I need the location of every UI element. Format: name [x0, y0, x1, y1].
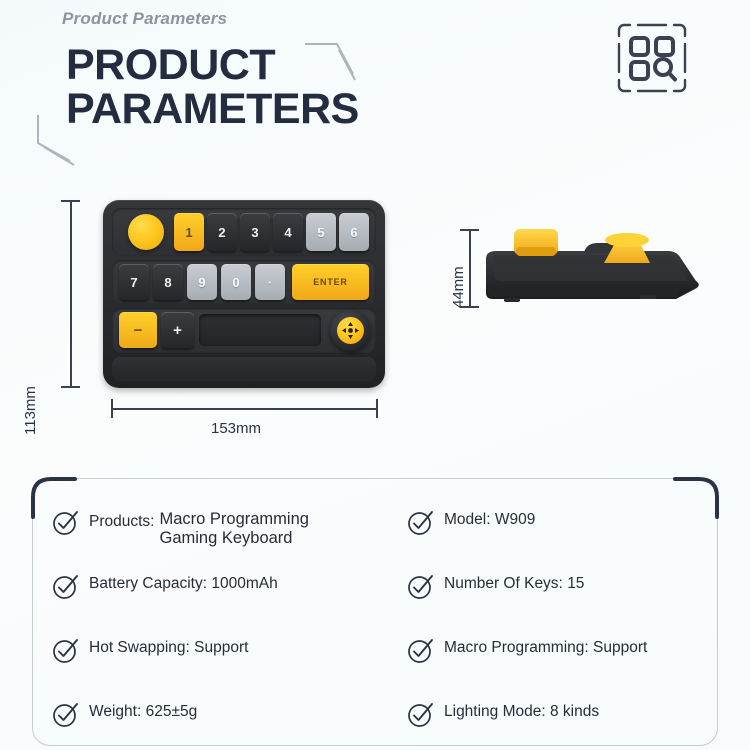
check-circle-icon	[52, 701, 79, 728]
keyboard-side-view-wrap: 44mm	[428, 218, 710, 328]
page-title: PRODUCT PARAMETERS	[66, 44, 486, 132]
directional-joystick[interactable]	[330, 310, 371, 351]
spec-value-line-1: Macro Programming	[159, 510, 308, 528]
bracket-decoration-icon	[34, 113, 94, 168]
spec-label: Lighting Mode:	[444, 703, 546, 720]
key-2[interactable]: 2	[207, 213, 237, 251]
key-enter[interactable]: ENTER	[292, 264, 369, 300]
dimension-tick	[61, 386, 80, 388]
keyboard-row-2: 7 8 9 0 · ENTER	[112, 260, 376, 304]
spec-item-battery-capacity: Battery Capacity: 1000mAh	[52, 571, 407, 635]
key-decimal-point[interactable]: ·	[255, 264, 285, 300]
spec-value: 625±5g	[146, 703, 198, 720]
dimension-tick	[376, 399, 378, 418]
dimension-label-width: 153mm	[211, 420, 261, 437]
key-5[interactable]: 5	[306, 213, 336, 251]
spec-value: W909	[495, 511, 536, 528]
keyboard-palm-rest	[112, 357, 376, 381]
dimension-tick	[460, 229, 479, 231]
spec-value: Support	[593, 639, 647, 656]
keyboard-row-3: − +	[112, 308, 376, 353]
key-4[interactable]: 4	[273, 213, 303, 251]
check-circle-icon	[52, 637, 79, 664]
rotary-knob[interactable]	[128, 214, 164, 250]
spec-item-products: Products: Macro Programming Gaming Keybo…	[52, 507, 407, 571]
spec-label: Products:	[89, 510, 154, 531]
key-space-bar[interactable]	[199, 314, 321, 346]
bracket-decoration-icon	[303, 40, 363, 90]
dimension-line-horizontal	[111, 408, 377, 410]
grid-search-icon	[614, 20, 690, 96]
spec-item-weight: Weight: 625±5g	[52, 699, 407, 750]
key-8[interactable]: 8	[153, 264, 183, 300]
key-0[interactable]: 0	[221, 264, 251, 300]
check-circle-icon	[407, 637, 434, 664]
spec-value-line-2: Gaming Keyboard	[159, 529, 292, 547]
dimension-label-height: 113mm	[22, 386, 39, 435]
page-title-line-2: PARAMETERS	[66, 88, 486, 132]
check-circle-icon	[52, 509, 79, 536]
key-minus[interactable]: −	[119, 312, 157, 348]
page-title-line-1: PRODUCT	[66, 44, 486, 88]
spec-item-model: Model: W909	[407, 507, 700, 571]
spec-value: 15	[567, 575, 584, 592]
spec-item-macro-programming: Macro Programming: Support	[407, 635, 700, 699]
dimension-label-side-height: 44mm	[450, 266, 467, 308]
spec-value: Support	[194, 639, 248, 656]
spec-label: Macro Programming:	[444, 639, 589, 656]
key-plus[interactable]: +	[161, 312, 194, 348]
key-6[interactable]: 6	[339, 213, 369, 251]
keyboard-row-1: 1 2 3 4 5 6	[112, 208, 376, 256]
product-diagram: 113mm 153mm 1 2 3 4 5 6 7 8 9 0 · ENTER …	[0, 180, 750, 465]
key-7[interactable]: 7	[119, 264, 149, 300]
dimension-line-side-height	[469, 229, 471, 307]
check-circle-icon	[407, 509, 434, 536]
keyboard-top-view: 1 2 3 4 5 6 7 8 9 0 · ENTER − +	[103, 200, 385, 388]
spec-label: Battery Capacity:	[89, 575, 207, 592]
spec-label: Number Of Keys:	[444, 575, 563, 592]
spec-item-lighting-mode: Lighting Mode: 8 kinds	[407, 699, 700, 750]
check-circle-icon	[407, 701, 434, 728]
spec-label: Model:	[444, 511, 491, 528]
joystick-cap	[337, 317, 364, 344]
spec-label: Hot Swapping:	[89, 639, 190, 656]
specifications-list: Products: Macro Programming Gaming Keybo…	[52, 507, 700, 750]
check-circle-icon	[52, 573, 79, 600]
spec-value: 1000mAh	[211, 575, 277, 592]
spec-label: Weight:	[89, 703, 141, 720]
spec-value: Macro Programming Gaming Keyboard	[159, 510, 308, 548]
spec-item-number-of-keys: Number Of Keys: 15	[407, 571, 700, 635]
key-9[interactable]: 9	[187, 264, 217, 300]
eyebrow-text: Product Parameters	[62, 9, 227, 29]
dimension-tick	[111, 399, 113, 418]
four-direction-arrows-icon	[341, 321, 360, 340]
dimension-line-vertical	[70, 200, 72, 388]
check-circle-icon	[407, 573, 434, 600]
key-3[interactable]: 3	[240, 213, 270, 251]
specifications-panel: Products: Macro Programming Gaming Keybo…	[32, 478, 718, 746]
page-header: Product Parameters PRODUCT PARAMETERS	[0, 0, 750, 180]
spec-item-hot-swapping: Hot Swapping: Support	[52, 635, 407, 699]
spec-value: 8 kinds	[550, 703, 599, 720]
keyboard-side-view	[480, 223, 710, 323]
dimension-tick	[61, 200, 80, 202]
key-1[interactable]: 1	[174, 213, 204, 251]
